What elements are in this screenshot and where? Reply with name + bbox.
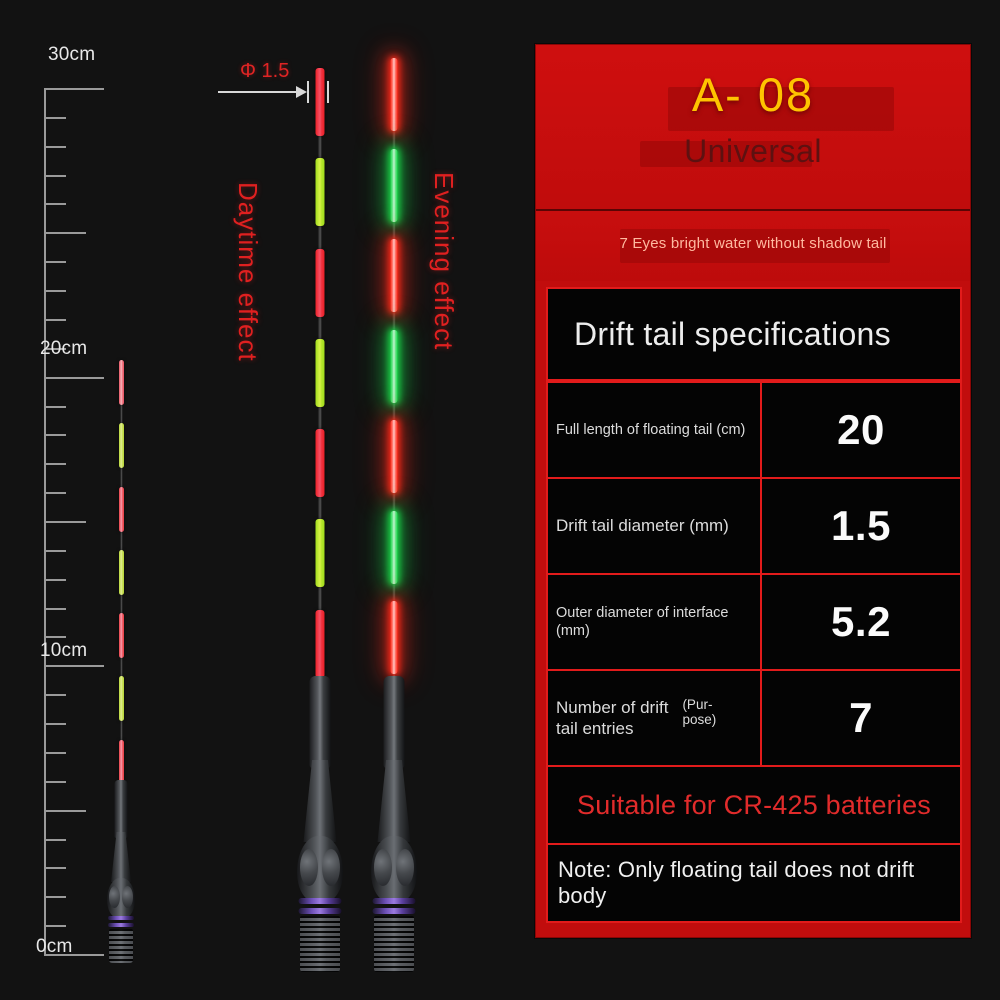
ruler-tick [44, 146, 66, 148]
float-segment [391, 149, 398, 222]
spec-row-sublabel: (Pur- pose) [682, 697, 716, 728]
ruler-tick [44, 117, 66, 119]
ruler-tick [44, 319, 66, 321]
ruler-tick [44, 434, 66, 436]
spec-row-value-cell: 1.5 [762, 479, 960, 573]
handle-lens-left [300, 849, 318, 886]
handle-ring-1 [299, 898, 342, 904]
specification-panel: A- 08 Universal 7 Eyes bright water with… [535, 44, 971, 938]
float-segment [391, 330, 398, 403]
ruler-tick [44, 88, 104, 90]
handle-cone [378, 760, 411, 842]
spec-table-title: Drift tail specifications [546, 287, 962, 381]
dimension-line [218, 91, 298, 93]
ruler-tick [44, 290, 66, 292]
float-segment [119, 550, 124, 595]
ruler-tick [44, 608, 66, 610]
handle-cone [111, 832, 131, 882]
handle-cone [304, 760, 337, 842]
spec-row-label: Full length of floating tail (cm) [556, 421, 745, 439]
spec-row-label-cell: Full length of floating tail (cm) [548, 383, 762, 477]
model-number: A- 08 [536, 67, 970, 122]
handle-ring-2 [373, 908, 416, 914]
spec-table-title-text: Drift tail specifications [574, 316, 891, 353]
diameter-label: Φ 1.5 [240, 60, 289, 83]
panel-subtitle-band: 7 Eyes bright water without shadow tail [536, 211, 970, 281]
float-evening-tail [389, 58, 399, 684]
float-scale-reference [95, 360, 147, 960]
handle-ring-2 [108, 923, 134, 927]
ruler-tick [44, 203, 66, 205]
float-evening [362, 58, 426, 968]
ruler-tick [44, 550, 66, 552]
ruler-tick [44, 463, 66, 465]
float-daytime-handle [293, 676, 347, 968]
float-segment [391, 239, 398, 312]
spec-label-wrap: Outer diameter of interface (mm) [556, 604, 750, 640]
ruler-tick [44, 636, 66, 638]
ruler-tick [44, 752, 66, 754]
spec-table-rows: Full length of floating tail (cm)20Drift… [546, 381, 962, 767]
handle-bulb [297, 836, 343, 902]
float-segment [391, 58, 398, 131]
handle-lens-right [322, 849, 340, 886]
ruler-tick [44, 839, 66, 841]
spec-row: Full length of floating tail (cm)20 [546, 381, 962, 479]
handle-lens-right [396, 849, 414, 886]
ruler-tick [44, 694, 66, 696]
handle-ring-2 [299, 908, 342, 914]
spec-row: Number of drift tail entries(Pur- pose)7 [546, 671, 962, 767]
float-segment [316, 429, 325, 497]
ruler-label-20cm: 20cm [40, 338, 87, 360]
ruler-tick [44, 781, 66, 783]
spec-row-value-cell: 7 [762, 671, 960, 765]
float-segment [119, 613, 124, 658]
spec-row-label: Outer diameter of interface (mm) [556, 604, 750, 640]
ruler-tick [44, 232, 86, 234]
spec-label-wrap: Drift tail diameter (mm) [556, 515, 729, 536]
footer-note: Note: Only floating tail does not drift … [558, 857, 960, 909]
float-segment [316, 249, 325, 317]
float-segment [119, 360, 124, 405]
float-scale-tail [119, 360, 124, 785]
daytime-effect-label: Daytime effect [232, 182, 263, 362]
dimension-arrow-icon [296, 86, 307, 98]
battery-note: Suitable for CR-425 batteries [577, 790, 931, 821]
battery-row: Suitable for CR-425 batteries [546, 767, 962, 845]
handle-neck [115, 780, 128, 838]
float-daytime [288, 68, 352, 968]
handle-lens-right [122, 886, 133, 908]
handle-ring-1 [373, 898, 416, 904]
ruler-label-30cm: 30cm [48, 44, 95, 66]
float-segment [316, 610, 325, 678]
handle-bulb [371, 836, 417, 902]
ruler-tick [44, 579, 66, 581]
ruler-tick [44, 810, 86, 812]
spec-row-label: Drift tail diameter (mm) [556, 515, 729, 536]
handle-lens-left [109, 886, 120, 908]
float-segment [316, 519, 325, 587]
handle-lens-left [374, 849, 392, 886]
float-scale-handle [104, 780, 138, 960]
spec-row-value: 20 [837, 406, 885, 454]
ruler-label-10cm: 10cm [40, 640, 87, 662]
float-segment [316, 158, 325, 226]
float-segment [119, 423, 124, 468]
spec-row-value-cell: 20 [762, 383, 960, 477]
panel-header: A- 08 Universal [536, 45, 970, 211]
spec-row-value: 5.2 [831, 598, 891, 646]
evening-effect-label: Evening effect [428, 172, 459, 350]
handle-thread [374, 916, 414, 972]
ruler-tick [44, 175, 66, 177]
spec-row-label-cell: Outer diameter of interface (mm) [548, 575, 762, 669]
handle-bulb [107, 878, 135, 918]
ruler-tick [44, 896, 66, 898]
spec-table: Drift tail specifications Full length of… [546, 287, 962, 923]
spec-row-value-cell: 5.2 [762, 575, 960, 669]
float-segment [316, 68, 325, 136]
float-segment [391, 511, 398, 584]
dimension-cap-left [307, 81, 309, 103]
spec-row-value: 7 [849, 694, 873, 742]
handle-thread [109, 929, 133, 963]
spec-row-label: Number of drift tail entries [556, 697, 668, 740]
spec-row-label-cell: Number of drift tail entries(Pur- pose) [548, 671, 762, 765]
ruler-tick [44, 406, 66, 408]
ruler-tick [44, 261, 66, 263]
ruler-tick [44, 723, 66, 725]
spec-label-wrap: Number of drift tail entries(Pur- pose) [556, 697, 716, 740]
spec-row: Outer diameter of interface (mm)5.2 [546, 575, 962, 671]
spec-row: Drift tail diameter (mm)1.5 [546, 479, 962, 575]
handle-thread [300, 916, 340, 972]
ruler-tick [44, 925, 66, 927]
ruler-label-0cm: 0cm [36, 936, 73, 958]
float-evening-handle [367, 676, 421, 968]
spec-row-value: 1.5 [831, 502, 891, 550]
panel-subtitle: 7 Eyes bright water without shadow tail [536, 235, 970, 252]
handle-neck [310, 676, 331, 768]
footer-note-row: Note: Only floating tail does not drift … [546, 845, 962, 923]
handle-neck [384, 676, 405, 768]
spec-label-wrap: Full length of floating tail (cm) [556, 421, 745, 439]
float-segment [391, 420, 398, 493]
universal-label: Universal [536, 133, 970, 170]
float-segment [119, 740, 124, 785]
ruler-tick [44, 867, 66, 869]
float-segment [316, 339, 325, 407]
handle-ring-1 [108, 916, 134, 920]
float-daytime-tail [315, 68, 325, 684]
float-segment [391, 601, 398, 674]
ruler-tick [44, 492, 66, 494]
float-segment [119, 676, 124, 721]
float-segment [119, 487, 124, 532]
dimension-cap-right [327, 81, 329, 103]
ruler-tick [44, 521, 86, 523]
spec-row-label-cell: Drift tail diameter (mm) [548, 479, 762, 573]
